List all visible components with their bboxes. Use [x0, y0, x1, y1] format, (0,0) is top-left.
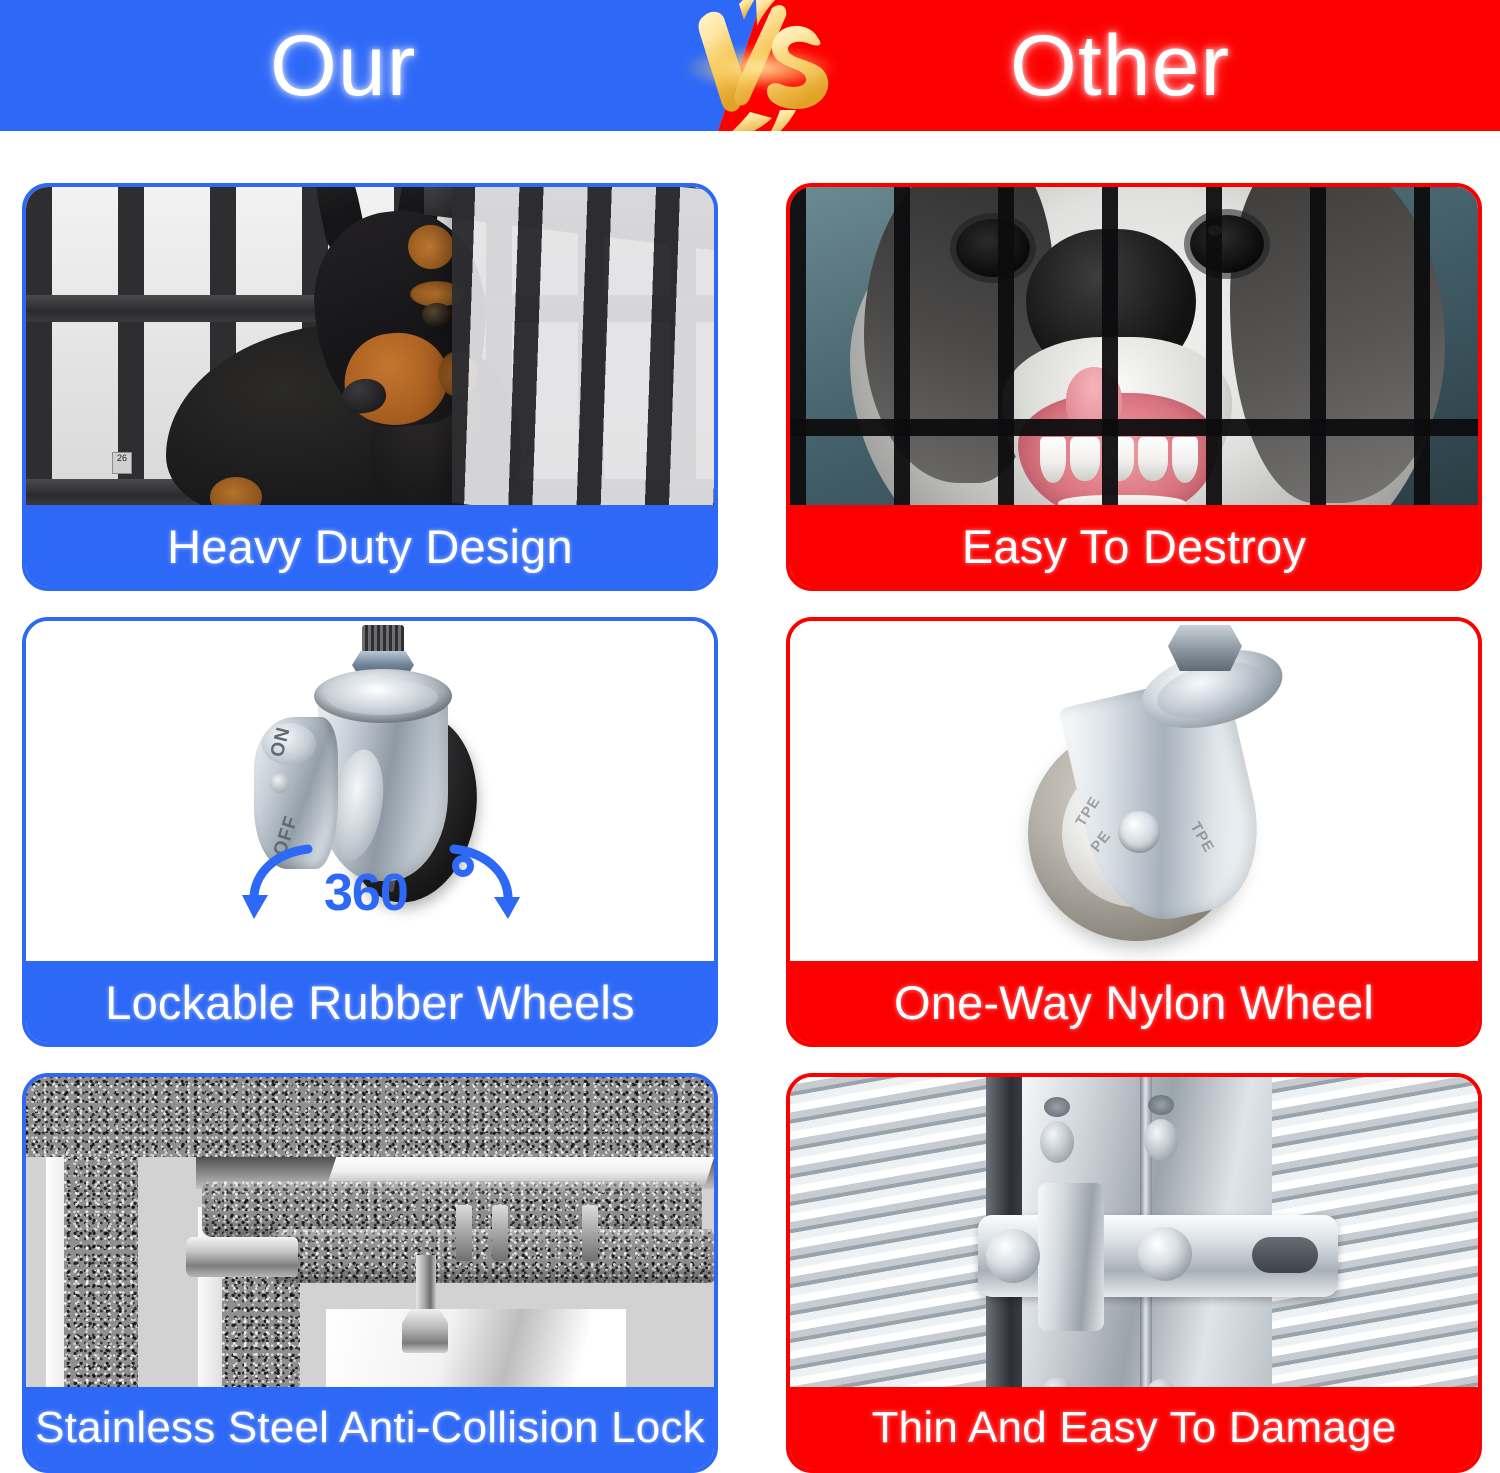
caption-ours-row3: Stainless Steel Anti-Collision Lock [26, 1387, 714, 1469]
caption-other-row3: Thin And Easy To Damage [790, 1387, 1478, 1469]
caption-other-row2: One-Way Nylon Wheel [790, 961, 1478, 1043]
card-other-one-way-nylon-wheel: TPE PE TPE One-Way Nylon Wheel [786, 617, 1482, 1047]
rotation-degrees-value: 360 [324, 867, 408, 919]
card-other-easy-to-destroy: Easy To Destroy [786, 183, 1482, 591]
rotation-annotation: 360 [216, 841, 546, 937]
comparison-infographic: Our Other [0, 0, 1500, 1467]
banner-title-other: Other [1010, 23, 1230, 109]
image-doberman-cage: 26 [26, 187, 714, 505]
card-other-thin-easy-to-damage: Thin And Easy To Damage [786, 1073, 1482, 1473]
caption-other-row1: Easy To Destroy [790, 505, 1478, 587]
degree-symbol-icon [452, 855, 474, 877]
image-stainless-anti-collision-lock [26, 1077, 714, 1387]
caption-ours-row1: Heavy Duty Design [26, 505, 714, 587]
image-lockable-rubber-caster: ON OFF 360 [26, 621, 714, 961]
image-nylon-caster: TPE PE TPE [790, 621, 1478, 961]
image-husky-biting-bars [790, 187, 1478, 505]
card-ours-heavy-duty-design: 26 [22, 183, 718, 591]
image-thin-latch [790, 1077, 1478, 1387]
caption-ours-row2: Lockable Rubber Wheels [26, 961, 714, 1043]
header-banner: Our Other [0, 0, 1500, 131]
banner-title-ours: Our [270, 23, 416, 109]
card-ours-anti-collision-lock: Stainless Steel Anti-Collision Lock [22, 1073, 718, 1473]
card-ours-lockable-rubber-wheels: ON OFF 360 [22, 617, 718, 1047]
comparison-grid: 26 [0, 131, 1500, 1467]
